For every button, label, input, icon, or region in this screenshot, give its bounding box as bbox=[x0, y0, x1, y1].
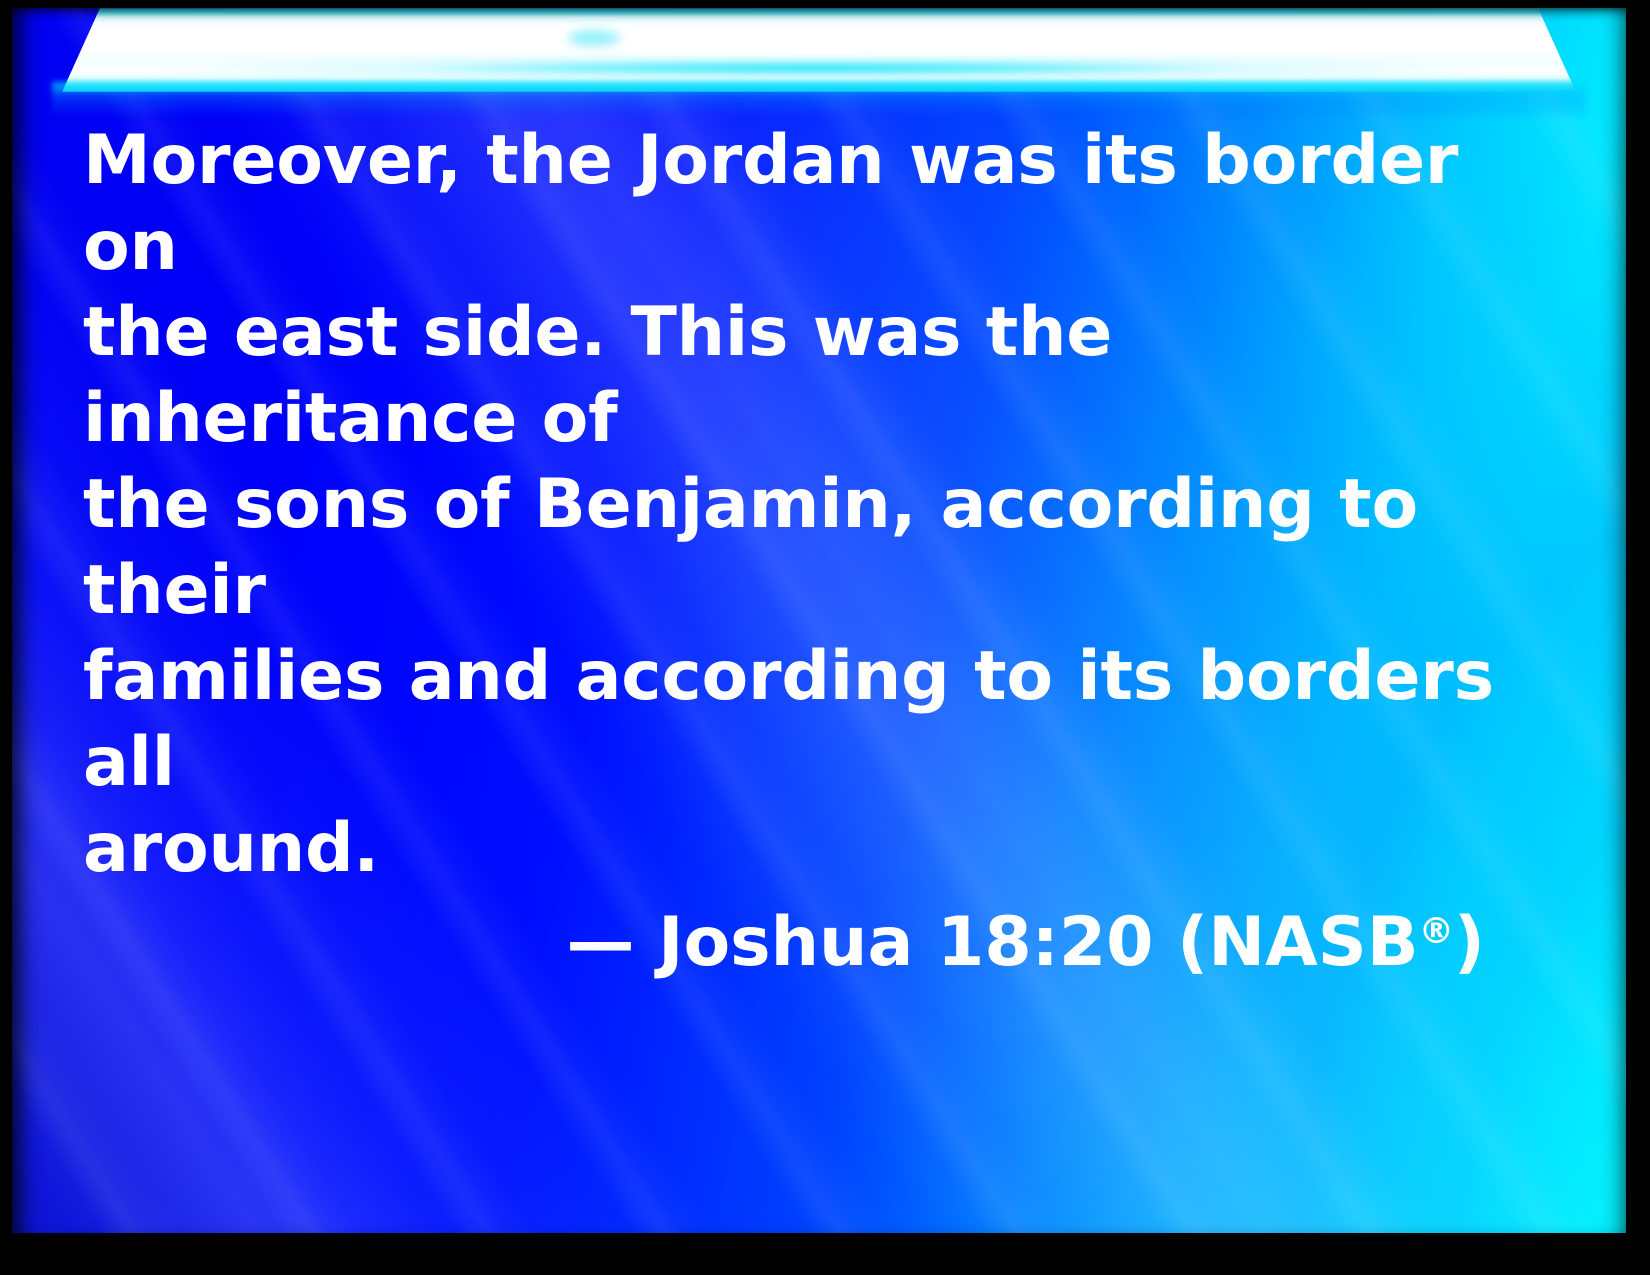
verse-line-3: the sons of Benjamin, according to their bbox=[83, 462, 1513, 634]
top-glow-bar-nub bbox=[568, 30, 620, 46]
verse-reference-prefix: — Joshua 18:20 (NASB bbox=[566, 903, 1418, 982]
verse-reference-suffix: ) bbox=[1454, 903, 1485, 982]
verse-line-4: families and according to its borders al… bbox=[83, 634, 1513, 806]
verse-reference: — Joshua 18:20 (NASB®) bbox=[83, 892, 1513, 986]
top-glow-bar-cyan-smear bbox=[132, 55, 1512, 81]
top-glow-bar-halo bbox=[52, 82, 1586, 116]
verse-block: Moreover, the Jordan was its border on t… bbox=[83, 118, 1513, 986]
verse-line-2: the east side. This was the inheritance … bbox=[83, 290, 1513, 462]
registered-trademark-icon: ® bbox=[1419, 911, 1454, 952]
verse-slide: Moreover, the Jordan was its border on t… bbox=[0, 0, 1650, 1275]
verse-line-5: around. bbox=[83, 806, 1513, 892]
verse-line-1: Moreover, the Jordan was its border on bbox=[83, 118, 1513, 290]
